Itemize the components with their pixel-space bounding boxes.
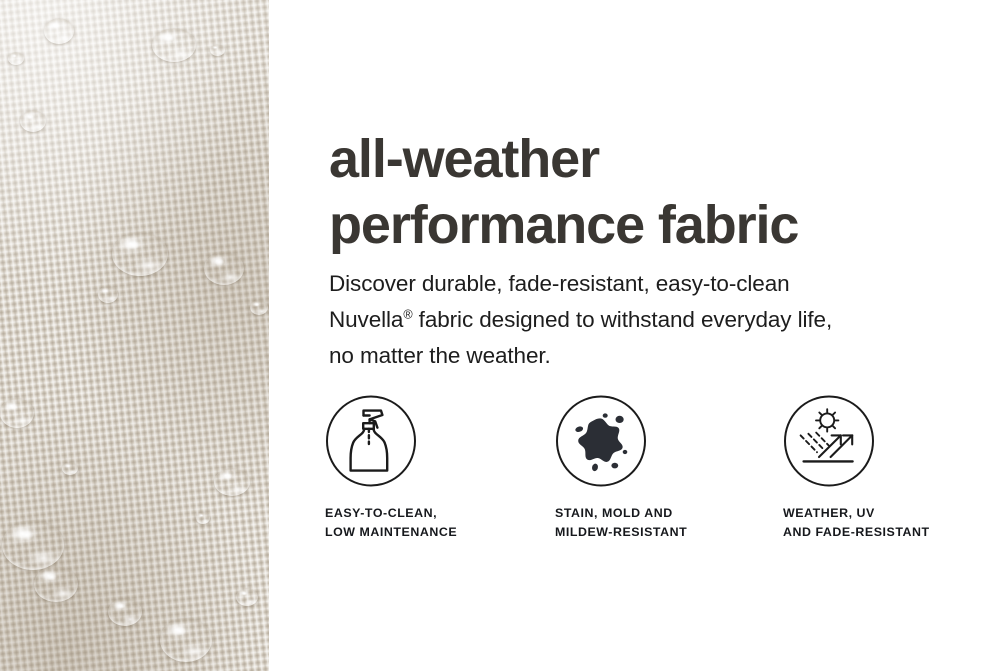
fabric-photo xyxy=(0,0,269,671)
water-droplet xyxy=(236,588,258,606)
water-droplet xyxy=(250,300,268,315)
page-title: all-weather performance fabric xyxy=(329,126,989,258)
promo-banner: all-weather performance fabric Discover … xyxy=(0,0,1005,671)
water-droplet xyxy=(214,468,250,496)
water-droplet xyxy=(44,18,74,44)
description-line-2: Nuvella® fabric designed to withstand ev… xyxy=(329,302,969,338)
water-droplet xyxy=(152,28,196,62)
feature-label-weather-resistant: WEATHER, UV AND FADE-RESISTANT xyxy=(783,504,998,542)
description-line-2-rest: fabric designed to withstand everyday li… xyxy=(413,307,833,332)
water-droplet xyxy=(0,398,34,428)
spray-bottle-icon xyxy=(325,395,417,487)
feature-label-stain-resistant: STAIN, MOLD AND MILDEW-RESISTANT xyxy=(555,504,770,542)
water-droplet xyxy=(204,252,244,285)
feature-label-line-1: WEATHER, UV xyxy=(783,504,998,523)
feature-item-weather-resistant: WEATHER, UV AND FADE-RESISTANT xyxy=(783,395,998,542)
description-line-1: Discover durable, fade-resistant, easy-t… xyxy=(329,266,969,302)
feature-label-line-2: LOW MAINTENANCE xyxy=(325,523,540,542)
water-droplet xyxy=(210,44,225,56)
feature-label-line-1: STAIN, MOLD AND xyxy=(555,504,770,523)
feature-label-line-2: MILDEW-RESISTANT xyxy=(555,523,770,542)
water-droplet xyxy=(34,566,78,602)
feature-label-easy-to-clean: EASY-TO-CLEAN, LOW MAINTENANCE xyxy=(325,504,540,542)
feature-item-easy-to-clean: EASY-TO-CLEAN, LOW MAINTENANCE xyxy=(325,395,540,542)
water-droplet xyxy=(8,52,24,65)
brand-name: Nuvella xyxy=(329,307,403,332)
water-droplet xyxy=(160,618,212,662)
feature-label-line-1: EASY-TO-CLEAN, xyxy=(325,504,540,523)
water-droplet xyxy=(108,598,142,626)
water-droplet xyxy=(62,462,78,475)
water-droplet xyxy=(98,286,118,303)
sun-uv-reflect-icon xyxy=(783,395,875,487)
content-column: all-weather performance fabric Discover … xyxy=(269,0,1005,671)
headline-line-2: performance fabric xyxy=(329,192,989,258)
water-droplet xyxy=(2,520,64,570)
water-droplet xyxy=(196,512,210,524)
water-droplet xyxy=(112,232,168,276)
water-droplet xyxy=(20,110,46,132)
feature-label-line-2: AND FADE-RESISTANT xyxy=(783,523,998,542)
description-line-3: no matter the weather. xyxy=(329,338,969,374)
stain-splat-icon xyxy=(555,395,647,487)
feature-item-stain-resistant: STAIN, MOLD AND MILDEW-RESISTANT xyxy=(555,395,770,542)
headline-line-1: all-weather xyxy=(329,126,989,192)
description-text: Discover durable, fade-resistant, easy-t… xyxy=(329,266,969,374)
registered-mark: ® xyxy=(403,307,412,321)
